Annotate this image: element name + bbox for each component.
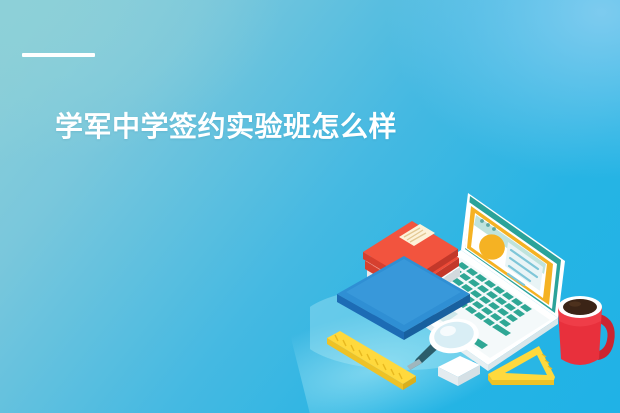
coffee-mug	[558, 296, 615, 365]
banner: 学军中学签约实验班怎么样	[0, 0, 620, 413]
illustration-study-desk	[310, 168, 620, 413]
page-title: 学军中学签约实验班怎么样	[55, 110, 397, 143]
accent-rule	[22, 53, 95, 57]
